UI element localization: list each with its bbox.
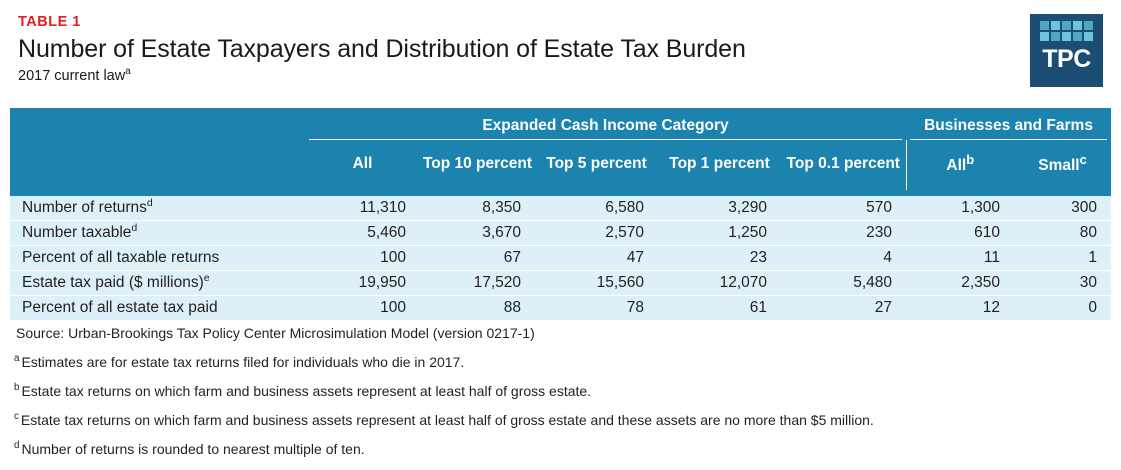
table-row: Percent of all estate tax paid 100 88 78… xyxy=(10,296,1111,321)
table-row: Number of returnsd 11,310 8,350 6,580 3,… xyxy=(10,196,1111,221)
group-header-business: Businesses and Farms xyxy=(906,108,1111,140)
subtitle-footnote-marker: a xyxy=(125,66,130,77)
logo-cell xyxy=(1062,21,1071,30)
cell-value: 11 xyxy=(906,246,1014,271)
cell-value: 1,250 xyxy=(658,221,781,246)
group-header-row: Expanded Cash Income Category Businesses… xyxy=(10,108,1111,140)
row-label: Percent of all taxable returns xyxy=(10,246,305,271)
row-label-footnote: d xyxy=(131,222,137,234)
note-text: Estate tax returns on which farm and bus… xyxy=(21,412,874,428)
cell-value: 23 xyxy=(658,246,781,271)
tpc-logo: TPC xyxy=(1030,14,1103,87)
row-label-text: Estate tax paid ($ millions) xyxy=(22,274,204,291)
column-header-bf-all-footnote: b xyxy=(966,152,974,167)
table-row: Estate tax paid ($ millions)e 19,950 17,… xyxy=(10,271,1111,296)
row-label-text: Percent of all taxable returns xyxy=(22,249,219,266)
cell-value: 100 xyxy=(305,296,420,321)
cell-value: 300 xyxy=(1014,196,1111,221)
note-a: aEstimates are for estate tax returns fi… xyxy=(14,354,1111,371)
note-marker: c xyxy=(14,411,19,422)
column-header-top1: Top 1 percent xyxy=(658,140,781,190)
note-text: Source: Urban-Brookings Tax Policy Cente… xyxy=(16,325,535,341)
cell-value: 17,520 xyxy=(420,271,535,296)
group-header-income: Expanded Cash Income Category xyxy=(305,108,906,140)
group-header-blank xyxy=(10,108,305,140)
cell-value: 6,580 xyxy=(535,196,658,221)
cell-value: 78 xyxy=(535,296,658,321)
logo-text: TPC xyxy=(1042,46,1091,72)
cell-value: 230 xyxy=(781,221,906,246)
row-label: Estate tax paid ($ millions)e xyxy=(10,271,305,296)
table-notes: Source: Urban-Brookings Tax Policy Cente… xyxy=(14,325,1111,470)
cell-value: 2,350 xyxy=(906,271,1014,296)
page-subtitle: 2017 current lawa xyxy=(18,67,1121,85)
table-row: Percent of all taxable returns 100 67 47… xyxy=(10,246,1111,271)
cell-value: 0 xyxy=(1014,296,1111,321)
cell-value: 100 xyxy=(305,246,420,271)
column-header-blank xyxy=(10,140,305,190)
note-text: Number of returns is rounded to nearest … xyxy=(21,441,364,457)
note-marker: b xyxy=(14,382,19,393)
note-source: Source: Urban-Brookings Tax Policy Cente… xyxy=(14,325,1111,342)
column-header-all: All xyxy=(305,140,420,190)
note-d: dNumber of returns is rounded to nearest… xyxy=(14,441,1111,458)
cell-value: 8,350 xyxy=(420,196,535,221)
note-c: cEstate tax returns on which farm and bu… xyxy=(14,412,1111,429)
column-header-bf-all: Allb xyxy=(906,140,1014,190)
logo-cell xyxy=(1073,32,1082,41)
row-label-text: Number of returns xyxy=(22,199,147,216)
cell-value: 80 xyxy=(1014,221,1111,246)
row-label-text: Number taxable xyxy=(22,224,131,241)
cell-value: 30 xyxy=(1014,271,1111,296)
column-header-top5: Top 5 percent xyxy=(535,140,658,190)
cell-value: 1,300 xyxy=(906,196,1014,221)
cell-value: 88 xyxy=(420,296,535,321)
cell-value: 3,290 xyxy=(658,196,781,221)
table-page: TABLE 1 Number of Estate Taxpayers and D… xyxy=(0,0,1121,457)
cell-value: 11,310 xyxy=(305,196,420,221)
cell-value: 67 xyxy=(420,246,535,271)
subtitle-text: 2017 current law xyxy=(18,68,125,84)
cell-value: 27 xyxy=(781,296,906,321)
cell-value: 610 xyxy=(906,221,1014,246)
logo-cell xyxy=(1073,21,1082,30)
column-header-bf-all-label: All xyxy=(946,158,966,175)
table-body: Number of returnsd 11,310 8,350 6,580 3,… xyxy=(10,196,1111,320)
row-label: Percent of all estate tax paid xyxy=(10,296,305,321)
note-b: bEstate tax returns on which farm and bu… xyxy=(14,383,1111,400)
logo-cell xyxy=(1084,32,1093,41)
cell-value: 5,460 xyxy=(305,221,420,246)
logo-cell xyxy=(1040,32,1049,41)
column-header-row: All Top 10 percent Top 5 percent Top 1 p… xyxy=(10,140,1111,190)
note-marker: a xyxy=(14,353,19,364)
row-label-text: Percent of all estate tax paid xyxy=(22,299,218,316)
logo-cell xyxy=(1084,21,1093,30)
column-header-bf-small: Smallc xyxy=(1014,140,1111,190)
note-marker: d xyxy=(14,440,19,451)
note-text: Estate tax returns on which farm and bus… xyxy=(21,383,591,399)
logo-cell xyxy=(1040,21,1049,30)
cell-value: 12,070 xyxy=(658,271,781,296)
row-label: Number of returnsd xyxy=(10,196,305,221)
cell-value: 4 xyxy=(781,246,906,271)
logo-cell xyxy=(1051,32,1060,41)
cell-value: 61 xyxy=(658,296,781,321)
logo-grid-icon xyxy=(1040,21,1093,41)
page-title: Number of Estate Taxpayers and Distribut… xyxy=(18,34,1121,64)
table-label: TABLE 1 xyxy=(18,14,1121,30)
cell-value: 47 xyxy=(535,246,658,271)
logo-cell xyxy=(1051,21,1060,30)
estate-tax-table: Expanded Cash Income Category Businesses… xyxy=(10,108,1111,320)
cell-value: 12 xyxy=(906,296,1014,321)
column-header-top10: Top 10 percent xyxy=(420,140,535,190)
column-header-bf-small-footnote: c xyxy=(1080,152,1087,167)
note-text: Estimates are for estate tax returns fil… xyxy=(21,354,464,370)
cell-value: 5,480 xyxy=(781,271,906,296)
logo-cell xyxy=(1062,32,1071,41)
cell-value: 1 xyxy=(1014,246,1111,271)
cell-value: 15,560 xyxy=(535,271,658,296)
cell-value: 570 xyxy=(781,196,906,221)
cell-value: 2,570 xyxy=(535,221,658,246)
table-row: Number taxabled 5,460 3,670 2,570 1,250 … xyxy=(10,221,1111,246)
cell-value: 19,950 xyxy=(305,271,420,296)
table-head: Expanded Cash Income Category Businesses… xyxy=(10,108,1111,196)
column-header-bf-small-label: Small xyxy=(1038,158,1079,175)
row-label-footnote: e xyxy=(204,272,210,284)
cell-value: 3,670 xyxy=(420,221,535,246)
page-header: TABLE 1 Number of Estate Taxpayers and D… xyxy=(18,14,1121,85)
row-label-footnote: d xyxy=(147,197,153,209)
row-label: Number taxabled xyxy=(10,221,305,246)
column-header-top01: Top 0.1 percent xyxy=(781,140,906,190)
